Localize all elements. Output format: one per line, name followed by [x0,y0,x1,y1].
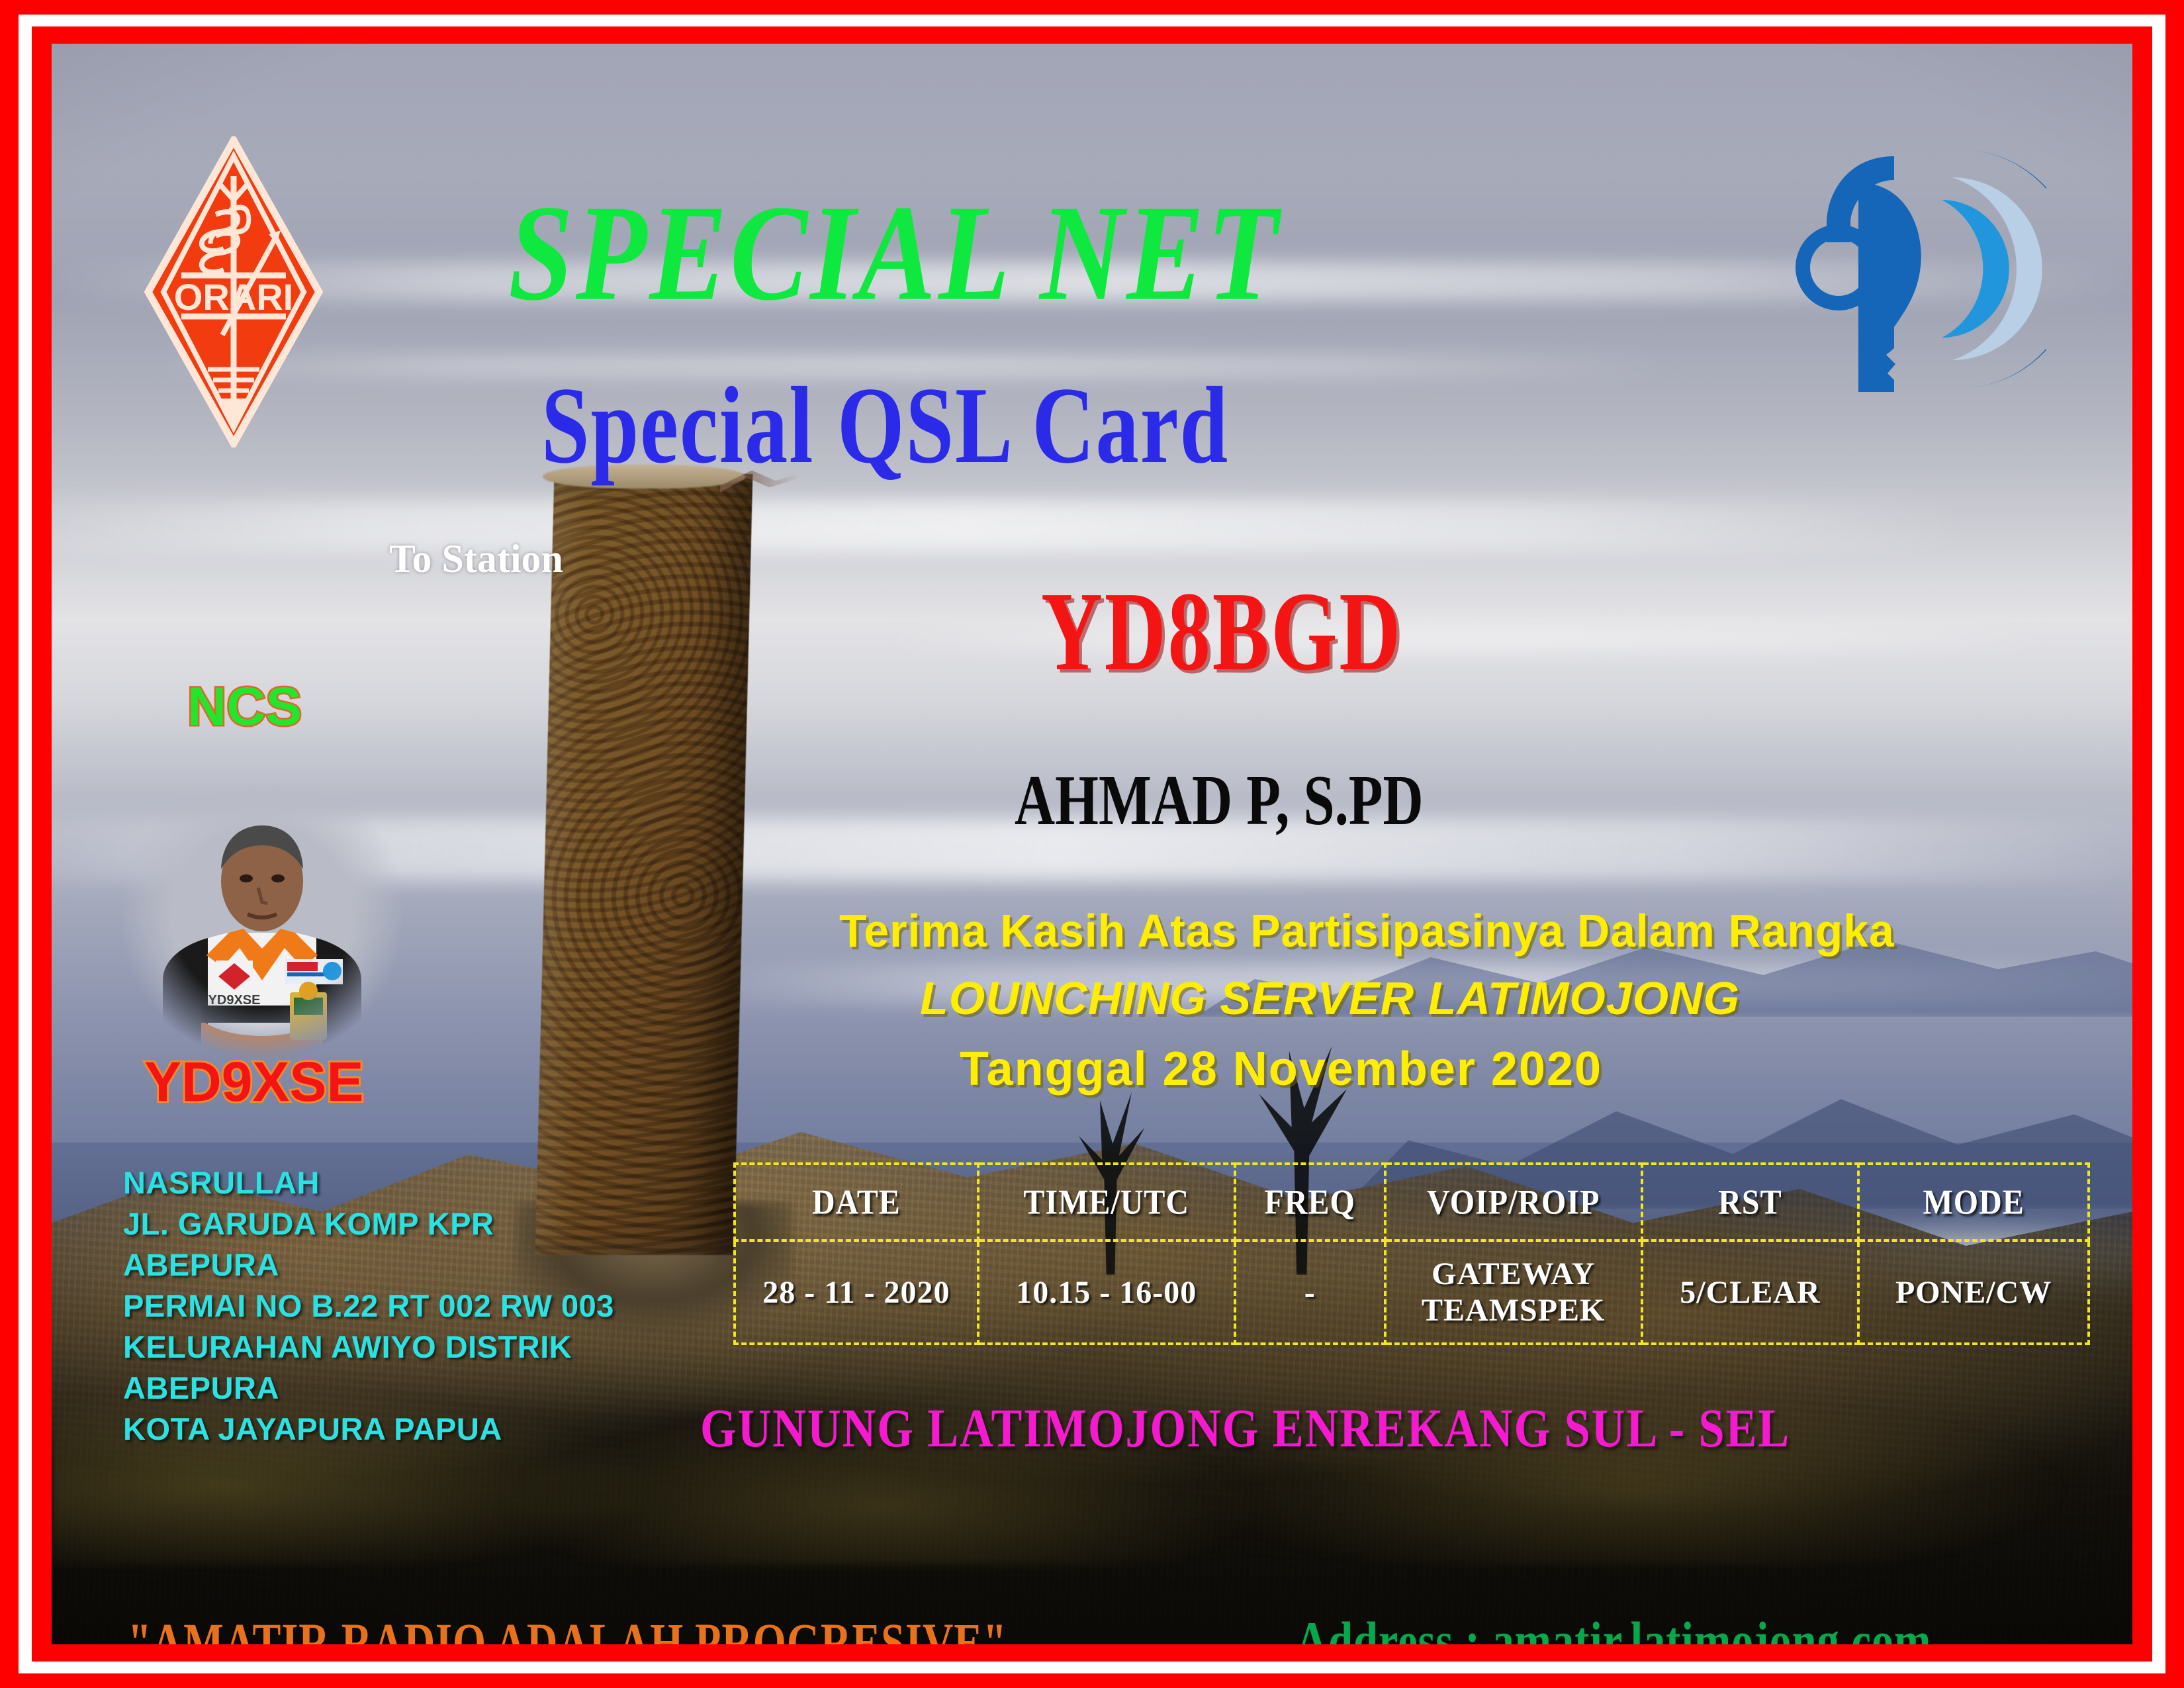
callsign: YD8BGD [1041,567,1402,696]
cell-voip: GATEWAY TEAMSPEK [1385,1241,1642,1344]
ncs-operator-portrait: YD9XSE [123,782,401,1060]
event-text-block: Terima Kasih Atas Partisipasinya Dalam R… [839,904,2097,1096]
slogan-text: "AMATIR RADIO ADALAH PROGRESIVE" [128,1613,1007,1644]
cell-mode: PONE/CW [1858,1241,2089,1344]
sender-address-block: NASRULLAH JL. GARUDA KOMP KPR ABEPURA PE… [123,1162,666,1450]
cell-voip-line1: GATEWAY [1387,1256,1640,1292]
col-header-mode: MODE [1858,1160,2089,1244]
col-header-voip: VOIP/ROIP [1385,1160,1642,1244]
page-subtitle: Special QSL Card [541,363,1229,489]
address-line: KOTA JAYAPURA PAPUA [123,1409,666,1450]
cell-rst: 5/CLEAR [1642,1241,1859,1344]
page-title: SPECIAL NET [508,175,1281,332]
address-line: ABEPURA [123,1244,666,1286]
address-line: ABEPURA [123,1368,666,1409]
ncs-callsign: YD9XSE [144,1050,364,1114]
cell-date: 28 - 11 - 2020 [735,1241,978,1344]
address-line: NASRULLAH [123,1162,666,1203]
location-line: GUNUNG LATIMOJONG ENREKANG SUL - SEL [700,1397,1790,1460]
col-header-date: DATE [735,1160,978,1244]
ncs-label: NCS [187,676,302,738]
qso-table: DATE TIME/UTC FREQ VOIP/ROIP RST MODE 28… [733,1162,2090,1345]
cell-voip-line2: TEAMSPEK [1387,1292,1640,1329]
col-header-freq: FREQ [1235,1160,1385,1244]
col-header-rst: RST [1642,1160,1859,1244]
address-line: JL. GARUDA KOMP KPR [123,1203,666,1244]
cell-freq: - [1235,1241,1385,1344]
operator-name: AHMAD P, S.PD [1015,759,1424,841]
orari-logo: ORARI [144,136,323,447]
table-row: 28 - 11 - 2020 10.15 - 16-00 - GATEWAY T… [735,1241,2089,1344]
address-line: PERMAI NO B.22 RT 002 RW 003 [123,1286,666,1327]
col-header-time: TIME/UTC [978,1160,1235,1244]
orari-logo-text: ORARI [174,276,293,318]
event-line: LOUNCHING SERVER LATIMOJONG [920,972,2097,1025]
table-header-row: DATE TIME/UTC FREQ VOIP/ROIP RST MODE [735,1164,2089,1241]
web-address-text: Address : amatir.latimojong.com [1296,1611,1931,1644]
cell-time: 10.15 - 16-00 [978,1241,1235,1344]
radio-operator-headset-logo [1795,136,2046,401]
cloud-band [52,500,1966,552]
card-photo-background: ORARI SPECIAL NET Special QSL Card To St… [52,44,2132,1644]
qsl-card: ORARI SPECIAL NET Special QSL Card To St… [0,0,2184,1688]
address-line: KELURAHAN AWIYO DISTRIK [123,1327,666,1368]
shirt-callsign-text: YD9XSE [208,993,261,1008]
event-date-line: Tanggal 28 November 2020 [960,1042,2097,1096]
stone-pillar-monument [535,474,753,1255]
thanks-line: Terima Kasih Atas Partisipasinya Dalam R… [839,904,2059,957]
to-station-label: To Station [389,536,563,582]
